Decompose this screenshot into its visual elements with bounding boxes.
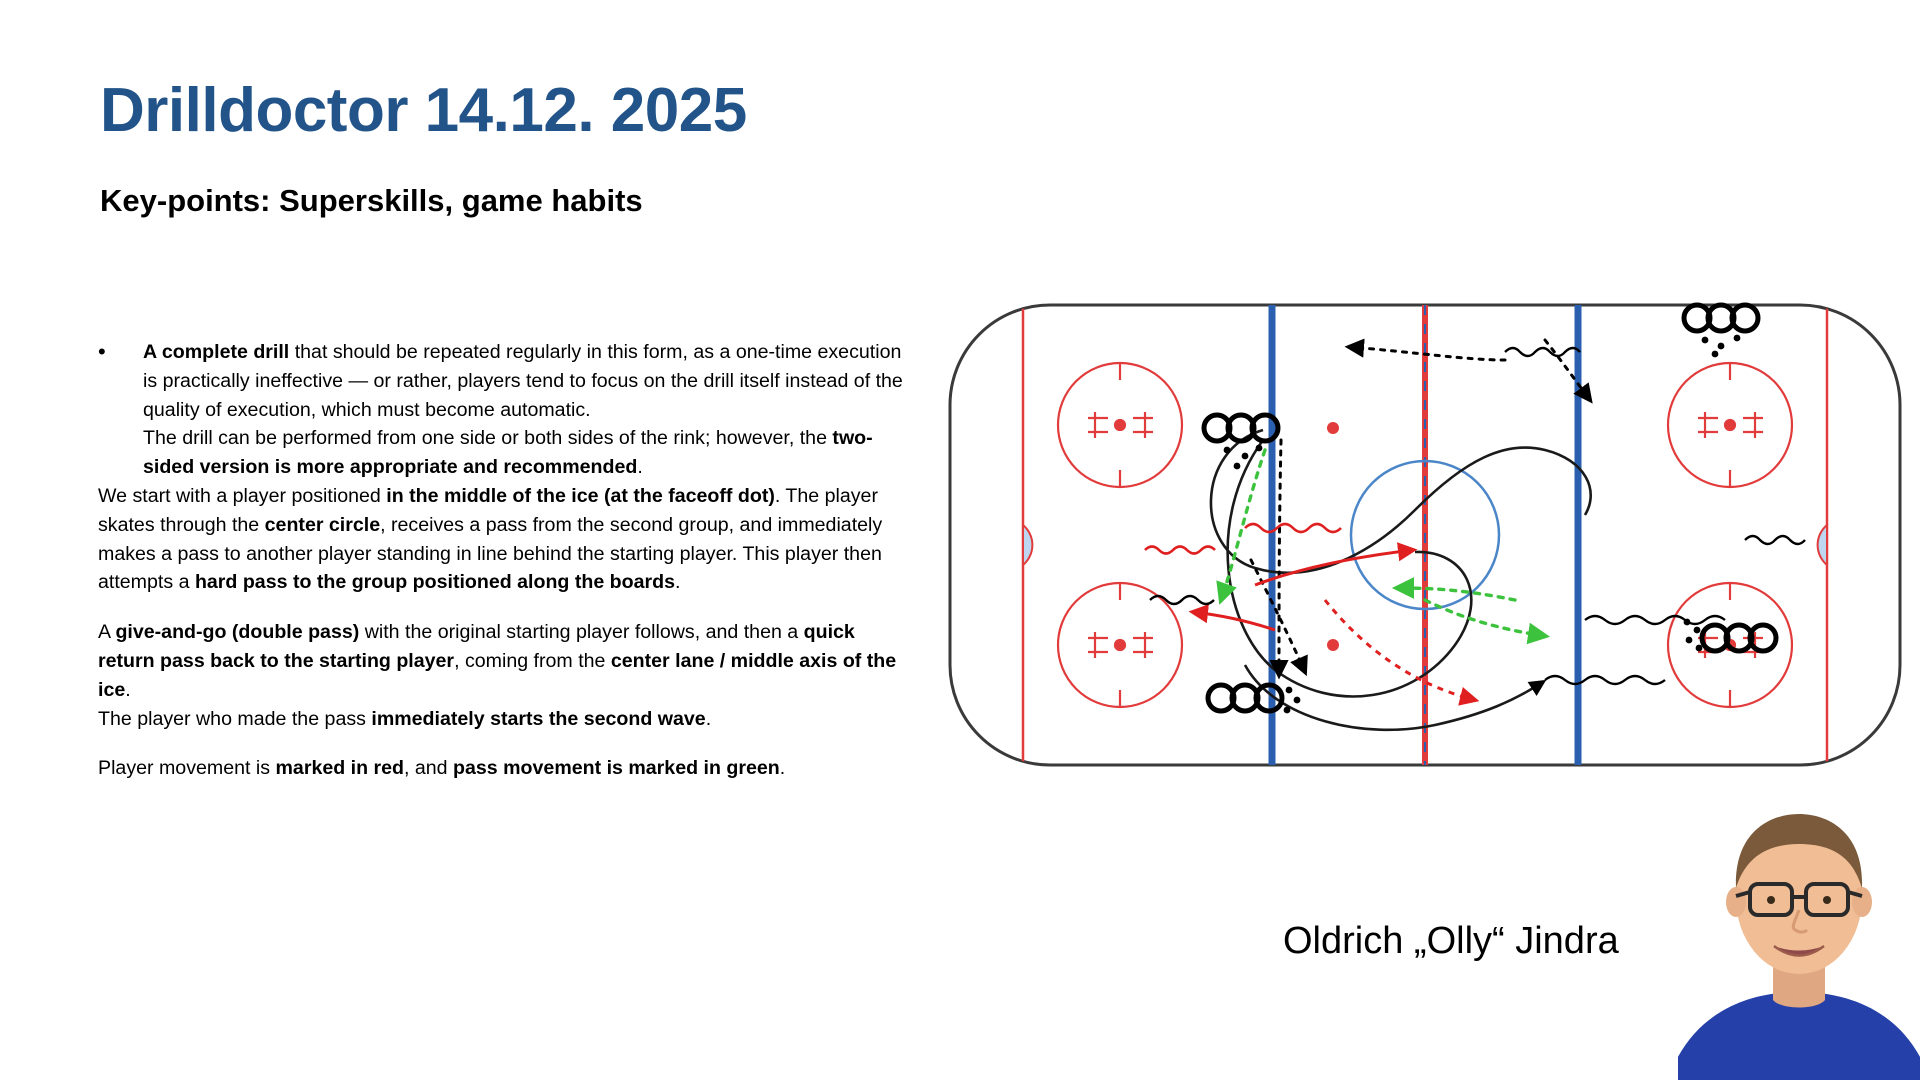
presenter-photo bbox=[1678, 770, 1920, 1080]
paragraph-start-position: We start with a player positioned in the… bbox=[98, 482, 903, 597]
neutral-dot-top bbox=[1327, 422, 1339, 434]
neutral-dot-bottom bbox=[1327, 639, 1339, 651]
bullet-text: A complete drill that should be repeated… bbox=[143, 338, 903, 482]
page-title: Drilldoctor 14.12. 2025 bbox=[100, 78, 747, 143]
paragraph-color-legend: Player movement is marked in red, and pa… bbox=[98, 754, 903, 783]
slide-root: Drilldoctor 14.12. 2025 Key-points: Supe… bbox=[0, 0, 1920, 1080]
rink-diagram bbox=[945, 300, 1905, 770]
paragraph-give-and-go: A give-and-go (double pass) with the ori… bbox=[98, 618, 903, 733]
page-subtitle: Key-points: Superskills, game habits bbox=[100, 183, 643, 219]
drill-description: • A complete drill that should be repeat… bbox=[98, 338, 903, 783]
presenter-name: Oldrich „Olly“ Jindra bbox=[1283, 920, 1619, 963]
bullet-marker: • bbox=[98, 338, 113, 482]
bullet-item: • A complete drill that should be repeat… bbox=[98, 338, 903, 482]
